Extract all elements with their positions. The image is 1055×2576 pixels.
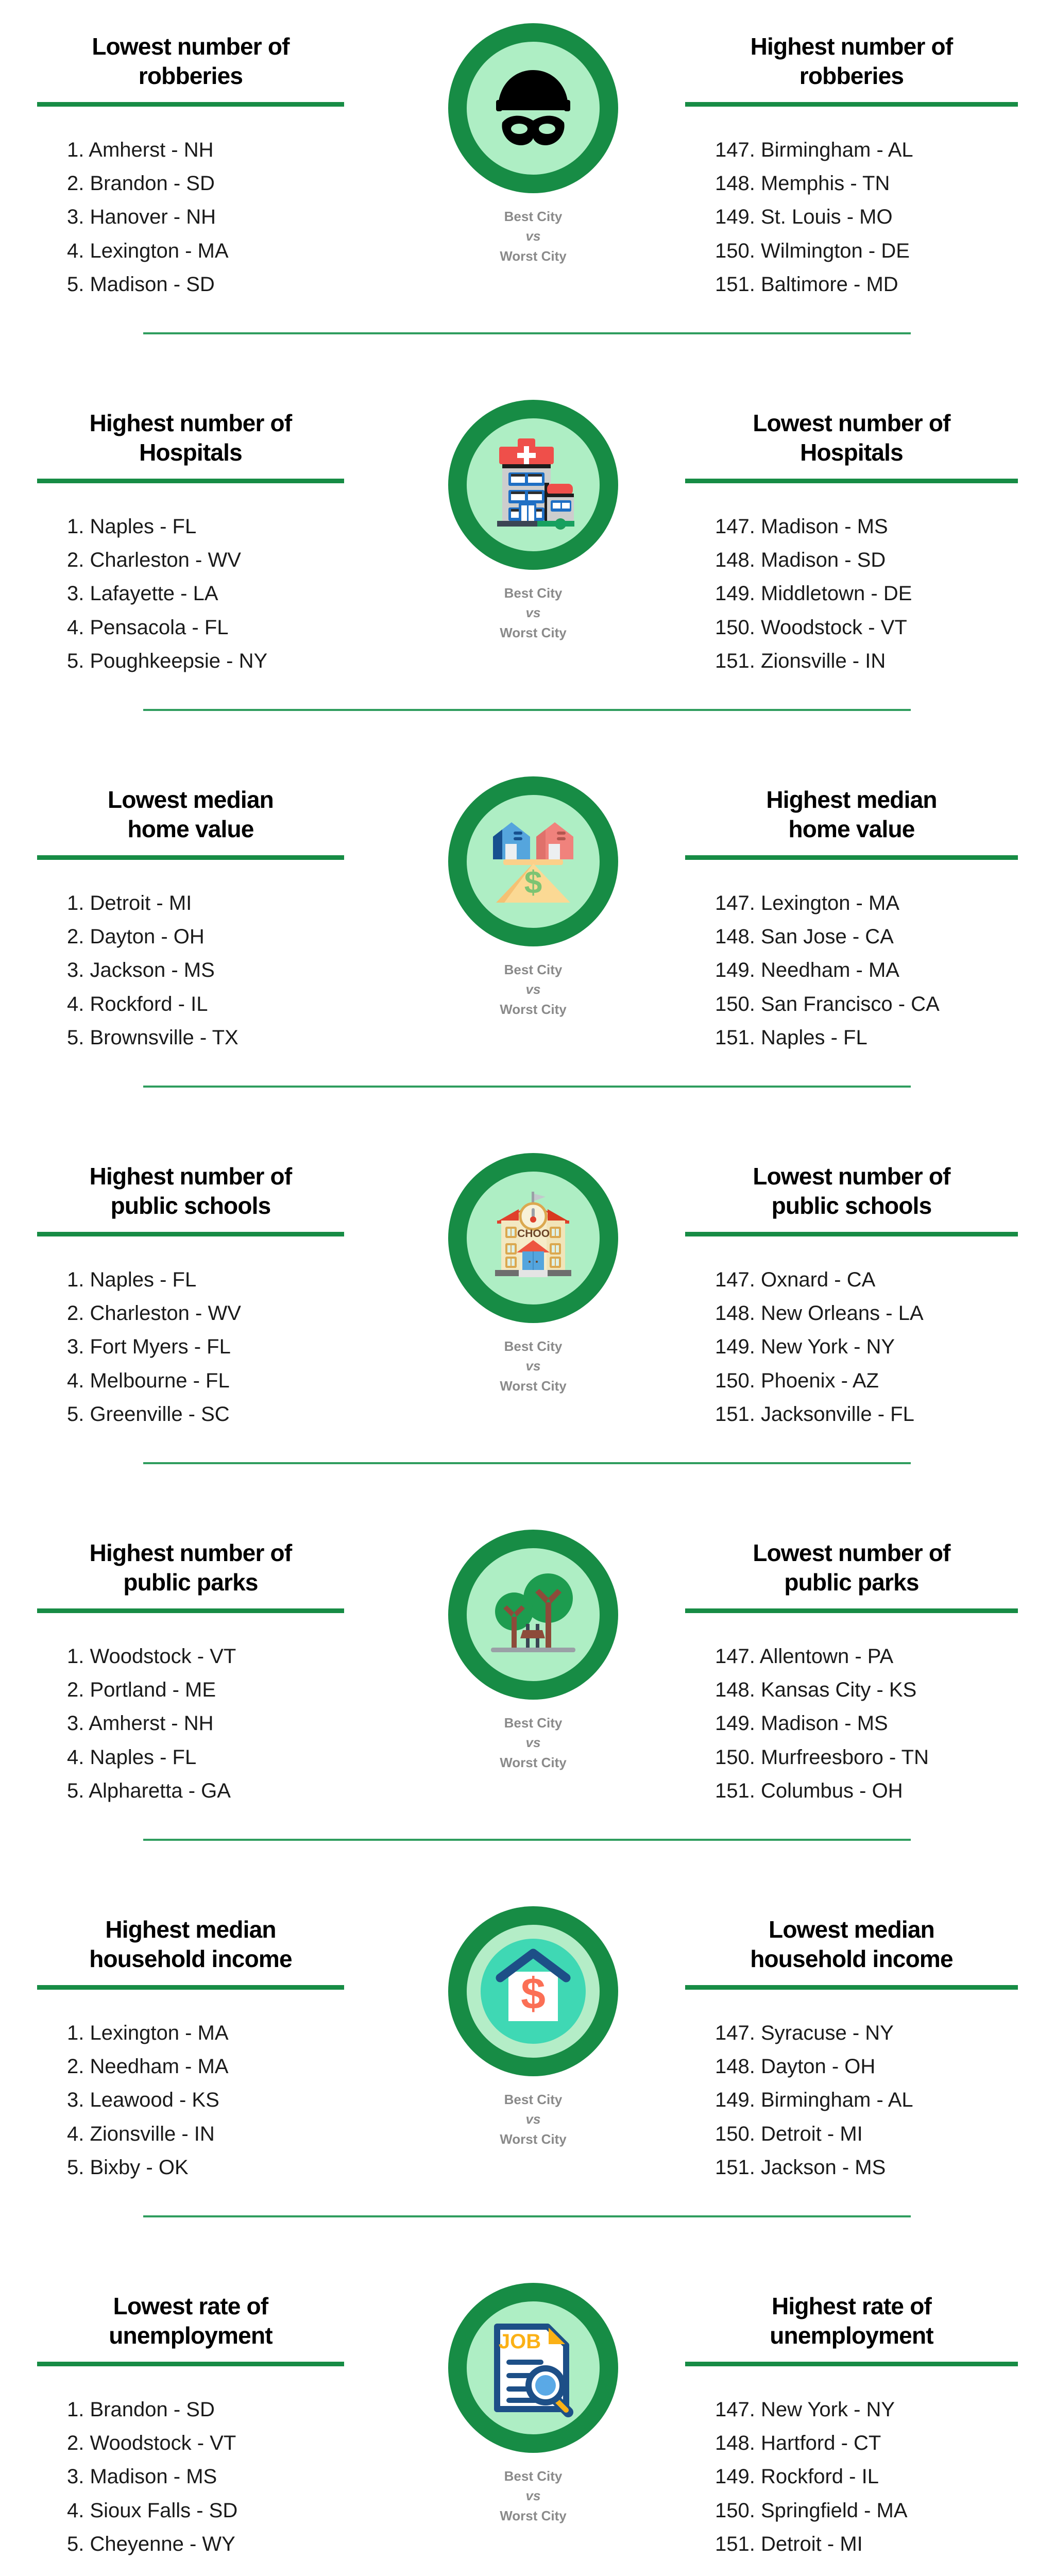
rank-number: 150. xyxy=(715,2123,761,2145)
city-state: Zionsville - IN xyxy=(761,650,886,672)
section-heading: Lowest number ofpublic schools xyxy=(685,1162,1018,1221)
city-state: Birmingham - AL xyxy=(761,2089,913,2111)
heading-line-2: Hospitals xyxy=(685,438,1018,467)
heading-line-1: Highest number of xyxy=(37,1162,344,1191)
list-item: 1. Amherst - NH xyxy=(67,133,344,167)
heading-underline xyxy=(685,1985,1018,1990)
rank-number: 5. xyxy=(67,650,90,672)
medallion-unemployment: JOB Best CityvsWorst City xyxy=(448,2283,618,2526)
heading-line-2: home value xyxy=(685,815,1018,844)
section-divider xyxy=(143,2215,911,2217)
caption-vs: vs xyxy=(500,1733,567,1752)
city-state: Amherst - NH xyxy=(89,139,213,161)
rank-number: 2. xyxy=(67,2432,90,2454)
rank-number: 148. xyxy=(715,1679,761,1701)
section-grid: Highest number ofpublic parks1. Woodstoc… xyxy=(0,1538,1055,1808)
city-state: Lexington - MA xyxy=(761,892,899,914)
city-state: Murfreesboro - TN xyxy=(761,1746,929,1769)
caption-vs: vs xyxy=(500,226,567,246)
list-item: 3. Amherst - NH xyxy=(67,1707,344,1740)
column-right-robberies: Highest number ofrobberies147. Birmingha… xyxy=(685,32,1055,301)
city-state: Madison - MS xyxy=(90,2465,217,2488)
badge-teal-circle: $ xyxy=(481,1939,586,2044)
section-center: $ Best CityvsWorst City xyxy=(381,776,685,1019)
list-item: 2. Charleston - WV xyxy=(67,544,344,577)
rank-number: 147. xyxy=(715,515,761,538)
list-item: 5. Alpharetta - GA xyxy=(67,1774,344,1808)
rank-number: 148. xyxy=(715,549,761,571)
city-state: Syracuse - NY xyxy=(761,2022,894,2044)
medallion-public-schools: SCHOOL Best CityvsWorst City xyxy=(448,1153,618,1396)
ranking-list: 1. Naples - FL2. Charleston - WV3. Fort … xyxy=(37,1263,344,1431)
city-state: Greenville - SC xyxy=(90,1403,229,1426)
ranking-list: 1. Detroit - MI2. Dayton - OH3. Jackson … xyxy=(37,887,344,1055)
rank-number: 2. xyxy=(67,2055,90,2078)
ranking-list: 147. Allentown - PA148. Kansas City - KS… xyxy=(685,1640,1018,1808)
city-state: Alpharetta - GA xyxy=(89,1780,231,1802)
rank-number: 5. xyxy=(67,1780,89,1802)
section-grid: Highest number ofHospitals1. Naples - FL… xyxy=(0,409,1055,678)
heading-line-2: household income xyxy=(37,1944,344,1974)
city-state: Rockford - IL xyxy=(90,993,208,1015)
caption-best: Best City xyxy=(500,2466,567,2486)
rank-number: 2. xyxy=(67,172,90,195)
rank-number: 150. xyxy=(715,1746,761,1769)
list-item: 150. Wilmington - DE xyxy=(715,234,1018,268)
rank-number: 149. xyxy=(715,1712,761,1735)
badge-ring: JOB xyxy=(448,2283,618,2453)
job-search-icon: JOB xyxy=(482,2316,585,2419)
ranking-list: 147. Birmingham - AL148. Memphis - TN149… xyxy=(685,133,1018,301)
heading-underline xyxy=(685,1608,1018,1613)
rank-number: 147. xyxy=(715,1645,760,1668)
city-state: Woodstock - VT xyxy=(90,2432,236,2454)
rank-number: 5. xyxy=(67,1026,90,1049)
list-item: 3. Fort Myers - FL xyxy=(67,1330,344,1364)
ranking-list: 147. Oxnard - CA148. New Orleans - LA149… xyxy=(685,1263,1018,1431)
city-state: Madison - MS xyxy=(761,515,888,538)
rank-number: 148. xyxy=(715,1302,761,1325)
rank-number: 151. xyxy=(715,2156,761,2179)
rank-number: 148. xyxy=(715,2432,761,2454)
column-left-public-parks: Highest number ofpublic parks1. Woodstoc… xyxy=(0,1538,381,1808)
infographic-page: Lowest number ofrobberies1. Amherst - NH… xyxy=(0,0,1055,2576)
badge-caption: Best CityvsWorst City xyxy=(500,2090,567,2149)
city-state: Pensacola - FL xyxy=(90,616,228,639)
city-state: Jacksonville - FL xyxy=(761,1403,914,1426)
city-state: Bixby - OK xyxy=(90,2156,188,2179)
rank-number: 147. xyxy=(715,1268,761,1291)
rank-number: 151. xyxy=(715,1403,761,1426)
list-item: 1. Lexington - MA xyxy=(67,2016,344,2050)
section-public-parks: Highest number ofpublic parks1. Woodstoc… xyxy=(0,1506,1055,1883)
badge-inner-circle: $ xyxy=(467,1925,600,2058)
heading-line-1: Highest number of xyxy=(37,1538,344,1568)
list-item: 2. Needham - MA xyxy=(67,2050,344,2083)
section-center: Best CityvsWorst City xyxy=(381,23,685,266)
list-item: 4. Zionsville - IN xyxy=(67,2117,344,2151)
rank-number: 147. xyxy=(715,892,761,914)
section-center: Best CityvsWorst City xyxy=(381,400,685,642)
heading-underline xyxy=(685,855,1018,860)
city-state: Baltimore - MD xyxy=(761,273,898,296)
rank-number: 3. xyxy=(67,582,90,605)
list-item: 5. Bixby - OK xyxy=(67,2151,344,2184)
caption-best: Best City xyxy=(500,583,567,603)
list-item: 151. Columbus - OH xyxy=(715,1774,1018,1808)
city-state: Birmingham - AL xyxy=(761,139,913,161)
rank-number: 148. xyxy=(715,925,761,948)
list-item: 2. Charleston - WV xyxy=(67,1297,344,1330)
list-item: 147. Syracuse - NY xyxy=(715,2016,1018,2050)
city-state: Detroit - MI xyxy=(761,2123,863,2145)
heading-underline xyxy=(37,1985,344,1990)
city-state: Naples - FL xyxy=(90,515,196,538)
ranking-list: 147. Madison - MS148. Madison - SD149. M… xyxy=(685,510,1018,678)
rank-number: 3. xyxy=(67,2089,90,2111)
city-state: Lexington - MA xyxy=(90,2022,228,2044)
section-grid: Lowest number ofrobberies1. Amherst - NH… xyxy=(0,32,1055,301)
list-item: 150. Murfreesboro - TN xyxy=(715,1741,1018,1774)
rank-number: 147. xyxy=(715,2022,761,2044)
heading-line-1: Highest median xyxy=(685,785,1018,815)
caption-best: Best City xyxy=(500,1336,567,1356)
section-heading: Highest rate ofunemployment xyxy=(685,2292,1018,2350)
city-state: Jackson - MS xyxy=(761,2156,886,2179)
heading-underline xyxy=(37,855,344,860)
list-item: 3. Hanover - NH xyxy=(67,200,344,234)
city-state: Dayton - OH xyxy=(90,925,204,948)
badge-caption: Best CityvsWorst City xyxy=(500,1713,567,1772)
caption-worst: Worst City xyxy=(500,2129,567,2149)
rank-number: 3. xyxy=(67,1335,90,1358)
badge-caption: Best CityvsWorst City xyxy=(500,2466,567,2526)
list-item: 5. Brownsville - TX xyxy=(67,1021,344,1055)
city-state: Middletown - DE xyxy=(761,582,912,605)
column-left-unemployment: Lowest rate ofunemployment1. Brandon - S… xyxy=(0,2292,381,2561)
rank-number: 150. xyxy=(715,1369,761,1392)
rank-number: 151. xyxy=(715,273,761,296)
ranking-list: 147. New York - NY148. Hartford - CT149.… xyxy=(685,2393,1018,2561)
heading-line-2: unemployment xyxy=(37,2321,344,2350)
city-state: Phoenix - AZ xyxy=(761,1369,879,1392)
column-left-public-schools: Highest number ofpublic schools1. Naples… xyxy=(0,1162,381,1431)
badge-ring xyxy=(448,23,618,193)
rank-number: 2. xyxy=(67,1302,90,1325)
heading-line-1: Lowest number of xyxy=(685,409,1018,438)
caption-worst: Worst City xyxy=(500,2506,567,2526)
list-item: 149. Needham - MA xyxy=(715,954,1018,987)
section-heading: Highest number ofpublic parks xyxy=(37,1538,344,1597)
section-household-income: Highest medianhousehold income1. Lexingt… xyxy=(0,1883,1055,2260)
column-right-home-value: Highest medianhome value147. Lexington -… xyxy=(685,785,1055,1055)
city-state: Detroit - MI xyxy=(761,2533,863,2555)
city-state: Portland - ME xyxy=(90,1679,216,1701)
list-item: 2. Woodstock - VT xyxy=(67,2427,344,2460)
list-item: 150. Phoenix - AZ xyxy=(715,1364,1018,1398)
column-right-hospitals: Lowest number ofHospitals147. Madison - … xyxy=(685,409,1055,678)
section-heading: Lowest medianhousehold income xyxy=(685,1915,1018,1974)
svg-text:$: $ xyxy=(521,1969,546,2019)
section-unemployment: Lowest rate ofunemployment1. Brandon - S… xyxy=(0,2260,1055,2576)
column-right-household-income: Lowest medianhousehold income147. Syracu… xyxy=(685,1915,1055,2184)
heading-underline xyxy=(685,1232,1018,1236)
section-heading: Lowest rate ofunemployment xyxy=(37,2292,344,2350)
rank-number: 149. xyxy=(715,206,761,228)
list-item: 5. Greenville - SC xyxy=(67,1398,344,1431)
list-item: 149. Madison - MS xyxy=(715,1707,1018,1740)
list-item: 147. Oxnard - CA xyxy=(715,1263,1018,1297)
heading-line-2: household income xyxy=(685,1944,1018,1974)
city-state: St. Louis - MO xyxy=(761,206,893,228)
rank-number: 149. xyxy=(715,582,761,605)
list-item: 147. Lexington - MA xyxy=(715,887,1018,920)
city-state: San Francisco - CA xyxy=(761,993,940,1015)
list-item: 150. Detroit - MI xyxy=(715,2117,1018,2151)
caption-worst: Worst City xyxy=(500,1376,567,1396)
rank-number: 150. xyxy=(715,993,761,1015)
ranking-list: 1. Woodstock - VT2. Portland - ME3. Amhe… xyxy=(37,1640,344,1808)
section-heading: Lowest number ofpublic parks xyxy=(685,1538,1018,1597)
rank-number: 3. xyxy=(67,1712,89,1735)
list-item: 151. Detroit - MI xyxy=(715,2528,1018,2561)
city-state: Brandon - SD xyxy=(90,2398,214,2421)
list-item: 1. Naples - FL xyxy=(67,510,344,544)
list-item: 149. Birmingham - AL xyxy=(715,2083,1018,2117)
list-item: 150. San Francisco - CA xyxy=(715,988,1018,1021)
city-state: Naples - FL xyxy=(90,1746,196,1769)
list-item: 4. Lexington - MA xyxy=(67,234,344,268)
heading-line-1: Lowest number of xyxy=(685,1162,1018,1191)
medallion-hospitals: Best CityvsWorst City xyxy=(448,400,618,642)
rank-number: 148. xyxy=(715,2055,761,2078)
city-state: Madison - SD xyxy=(90,273,214,296)
section-center: JOB Best CityvsWorst City xyxy=(381,2283,685,2526)
city-state: Allentown - PA xyxy=(760,1645,893,1668)
city-state: Brownsville - TX xyxy=(90,1026,238,1049)
city-state: Woodstock - VT xyxy=(90,1645,236,1668)
column-left-hospitals: Highest number ofHospitals1. Naples - FL… xyxy=(0,409,381,678)
rank-number: 150. xyxy=(715,616,761,639)
heading-line-1: Highest number of xyxy=(37,409,344,438)
city-state: Dayton - OH xyxy=(761,2055,875,2078)
city-state: Wilmington - DE xyxy=(761,240,910,262)
city-state: Melbourne - FL xyxy=(90,1369,229,1392)
section-divider xyxy=(143,1839,911,1841)
caption-best: Best City xyxy=(500,207,567,226)
badge-caption: Best CityvsWorst City xyxy=(500,583,567,642)
rank-number: 150. xyxy=(715,2499,761,2522)
rank-number: 149. xyxy=(715,1335,761,1358)
rank-number: 4. xyxy=(67,240,90,262)
badge-ring xyxy=(448,1530,618,1700)
rank-number: 149. xyxy=(715,2089,761,2111)
list-item: 4. Pensacola - FL xyxy=(67,611,344,645)
heading-line-1: Lowest number of xyxy=(37,32,344,61)
ranking-list: 1. Naples - FL2. Charleston - WV3. Lafay… xyxy=(37,510,344,678)
section-robberies: Lowest number ofrobberies1. Amherst - NH… xyxy=(0,0,1055,377)
heading-line-2: robberies xyxy=(37,61,344,91)
city-state: Sioux Falls - SD xyxy=(90,2499,237,2522)
list-item: 1. Naples - FL xyxy=(67,1263,344,1297)
rank-number: 1. xyxy=(67,2398,90,2421)
rank-number: 147. xyxy=(715,139,761,161)
city-state: Naples - FL xyxy=(90,1268,196,1291)
city-state: Naples - FL xyxy=(761,1026,867,1049)
badge-inner-circle: SCHOOL xyxy=(467,1172,600,1304)
section-center: $ Best CityvsWorst City xyxy=(381,1906,685,2149)
city-state: Needham - MA xyxy=(90,2055,228,2078)
city-state: Lexington - MA xyxy=(90,240,228,262)
section-heading: Highest medianhome value xyxy=(685,785,1018,844)
list-item: 149. Rockford - IL xyxy=(715,2460,1018,2494)
list-item: 151. Jackson - MS xyxy=(715,2151,1018,2184)
city-state: Zionsville - IN xyxy=(90,2123,214,2145)
heading-underline xyxy=(37,1608,344,1613)
rank-number: 4. xyxy=(67,993,90,1015)
city-state: Leawood - KS xyxy=(90,2089,219,2111)
section-heading: Highest number ofpublic schools xyxy=(37,1162,344,1221)
city-state: Brandon - SD xyxy=(90,172,214,195)
list-item: 148. Dayton - OH xyxy=(715,2050,1018,2083)
city-state: Jackson - MS xyxy=(90,959,214,981)
rank-number: 5. xyxy=(67,1403,90,1426)
heading-underline xyxy=(685,479,1018,483)
section-heading: Lowest number ofHospitals xyxy=(685,409,1018,467)
rank-number: 1. xyxy=(67,892,90,914)
badge-inner-circle: $ xyxy=(467,795,600,928)
city-state: New Orleans - LA xyxy=(761,1302,924,1325)
rank-number: 150. xyxy=(715,240,761,262)
rank-number: 3. xyxy=(67,959,90,981)
caption-worst: Worst City xyxy=(500,1753,567,1772)
list-item: 147. Birmingham - AL xyxy=(715,133,1018,167)
city-state: Needham - MA xyxy=(761,959,899,981)
rank-number: 1. xyxy=(67,139,89,161)
caption-worst: Worst City xyxy=(500,623,567,642)
section-grid: Lowest rate ofunemployment1. Brandon - S… xyxy=(0,2292,1055,2561)
caption-worst: Worst City xyxy=(500,246,567,266)
badge-inner-circle xyxy=(467,418,600,551)
robber-mask-icon xyxy=(482,57,585,160)
column-right-public-schools: Lowest number ofpublic schools147. Oxnar… xyxy=(685,1162,1055,1431)
list-item: 148. Kansas City - KS xyxy=(715,1673,1018,1707)
list-item: 3. Leawood - KS xyxy=(67,2083,344,2117)
heading-line-2: public schools xyxy=(685,1191,1018,1221)
ranking-list: 147. Lexington - MA148. San Jose - CA149… xyxy=(685,887,1018,1055)
rank-number: 148. xyxy=(715,172,761,195)
list-item: 151. Baltimore - MD xyxy=(715,268,1018,301)
rank-number: 3. xyxy=(67,206,90,228)
list-item: 148. Memphis - TN xyxy=(715,167,1018,200)
list-item: 4. Naples - FL xyxy=(67,1741,344,1774)
rank-number: 151. xyxy=(715,2533,761,2555)
section-heading: Highest number ofHospitals xyxy=(37,409,344,467)
city-state: Hartford - CT xyxy=(761,2432,881,2454)
section-divider xyxy=(143,1086,911,1088)
ranking-list: 1. Brandon - SD2. Woodstock - VT3. Madis… xyxy=(37,2393,344,2561)
list-item: 1. Brandon - SD xyxy=(67,2393,344,2427)
badge-inner-circle: JOB xyxy=(467,2301,600,2434)
heading-underline xyxy=(37,102,344,107)
ranking-list: 147. Syracuse - NY148. Dayton - OH149. B… xyxy=(685,2016,1018,2184)
city-state: Lafayette - LA xyxy=(90,582,218,605)
column-right-public-parks: Lowest number ofpublic parks147. Allento… xyxy=(685,1538,1055,1808)
list-item: 148. San Jose - CA xyxy=(715,920,1018,954)
list-item: 5. Poughkeepsie - NY xyxy=(67,645,344,678)
list-item: 2. Brandon - SD xyxy=(67,167,344,200)
medallion-robberies: Best CityvsWorst City xyxy=(448,23,618,266)
heading-line-2: robberies xyxy=(685,61,1018,91)
list-item: 3. Jackson - MS xyxy=(67,954,344,987)
city-state: Charleston - WV xyxy=(90,1302,241,1325)
section-grid: Lowest medianhome value1. Detroit - MI2.… xyxy=(0,785,1055,1055)
list-item: 148. New Orleans - LA xyxy=(715,1297,1018,1330)
city-state: San Jose - CA xyxy=(761,925,894,948)
city-state: Kansas City - KS xyxy=(761,1679,916,1701)
list-item: 150. Springfield - MA xyxy=(715,2494,1018,2528)
rank-number: 147. xyxy=(715,2398,761,2421)
heading-underline xyxy=(685,102,1018,107)
rank-number: 1. xyxy=(67,1268,90,1291)
badge-inner-circle xyxy=(467,42,600,175)
rank-number: 151. xyxy=(715,1026,761,1049)
school-icon: SCHOOL xyxy=(482,1187,585,1290)
city-state: Columbus - OH xyxy=(761,1780,903,1802)
list-item: 4. Rockford - IL xyxy=(67,988,344,1021)
badge-inner-circle xyxy=(467,1548,600,1681)
section-divider xyxy=(143,1462,911,1464)
list-item: 151. Zionsville - IN xyxy=(715,645,1018,678)
section-center: SCHOOL Best CityvsWorst City xyxy=(381,1153,685,1396)
rank-number: 149. xyxy=(715,2465,761,2488)
city-state: Poughkeepsie - NY xyxy=(90,650,267,672)
column-left-robberies: Lowest number ofrobberies1. Amherst - NH… xyxy=(0,32,381,301)
list-item: 147. Madison - MS xyxy=(715,510,1018,544)
caption-worst: Worst City xyxy=(500,999,567,1019)
caption-vs: vs xyxy=(500,1356,567,1376)
hospital-icon xyxy=(482,433,585,536)
heading-line-2: home value xyxy=(37,815,344,844)
house-dollar-icon: $ xyxy=(482,1940,585,2043)
list-item: 148. Hartford - CT xyxy=(715,2427,1018,2460)
heading-underline xyxy=(37,1232,344,1236)
rank-number: 2. xyxy=(67,1679,90,1701)
city-state: Madison - MS xyxy=(761,1712,888,1735)
caption-best: Best City xyxy=(500,960,567,979)
list-item: 149. St. Louis - MO xyxy=(715,200,1018,234)
list-item: 1. Detroit - MI xyxy=(67,887,344,920)
rank-number: 4. xyxy=(67,2123,90,2145)
list-item: 147. New York - NY xyxy=(715,2393,1018,2427)
rank-number: 4. xyxy=(67,2499,90,2522)
rank-number: 4. xyxy=(67,616,90,639)
heading-underline xyxy=(37,479,344,483)
rank-number: 2. xyxy=(67,925,90,948)
list-item: 148. Madison - SD xyxy=(715,544,1018,577)
heading-line-2: public schools xyxy=(37,1191,344,1221)
list-item: 3. Lafayette - LA xyxy=(67,577,344,611)
badge-caption: Best CityvsWorst City xyxy=(500,960,567,1019)
section-grid: Highest medianhousehold income1. Lexingt… xyxy=(0,1915,1055,2184)
city-state: Fort Myers - FL xyxy=(90,1335,230,1358)
city-state: Woodstock - VT xyxy=(761,616,907,639)
rank-number: 5. xyxy=(67,2533,90,2555)
list-item: 2. Dayton - OH xyxy=(67,920,344,954)
section-hospitals: Highest number ofHospitals1. Naples - FL… xyxy=(0,377,1055,753)
medallion-home-value: $ Best CityvsWorst City xyxy=(448,776,618,1019)
caption-vs: vs xyxy=(500,603,567,622)
